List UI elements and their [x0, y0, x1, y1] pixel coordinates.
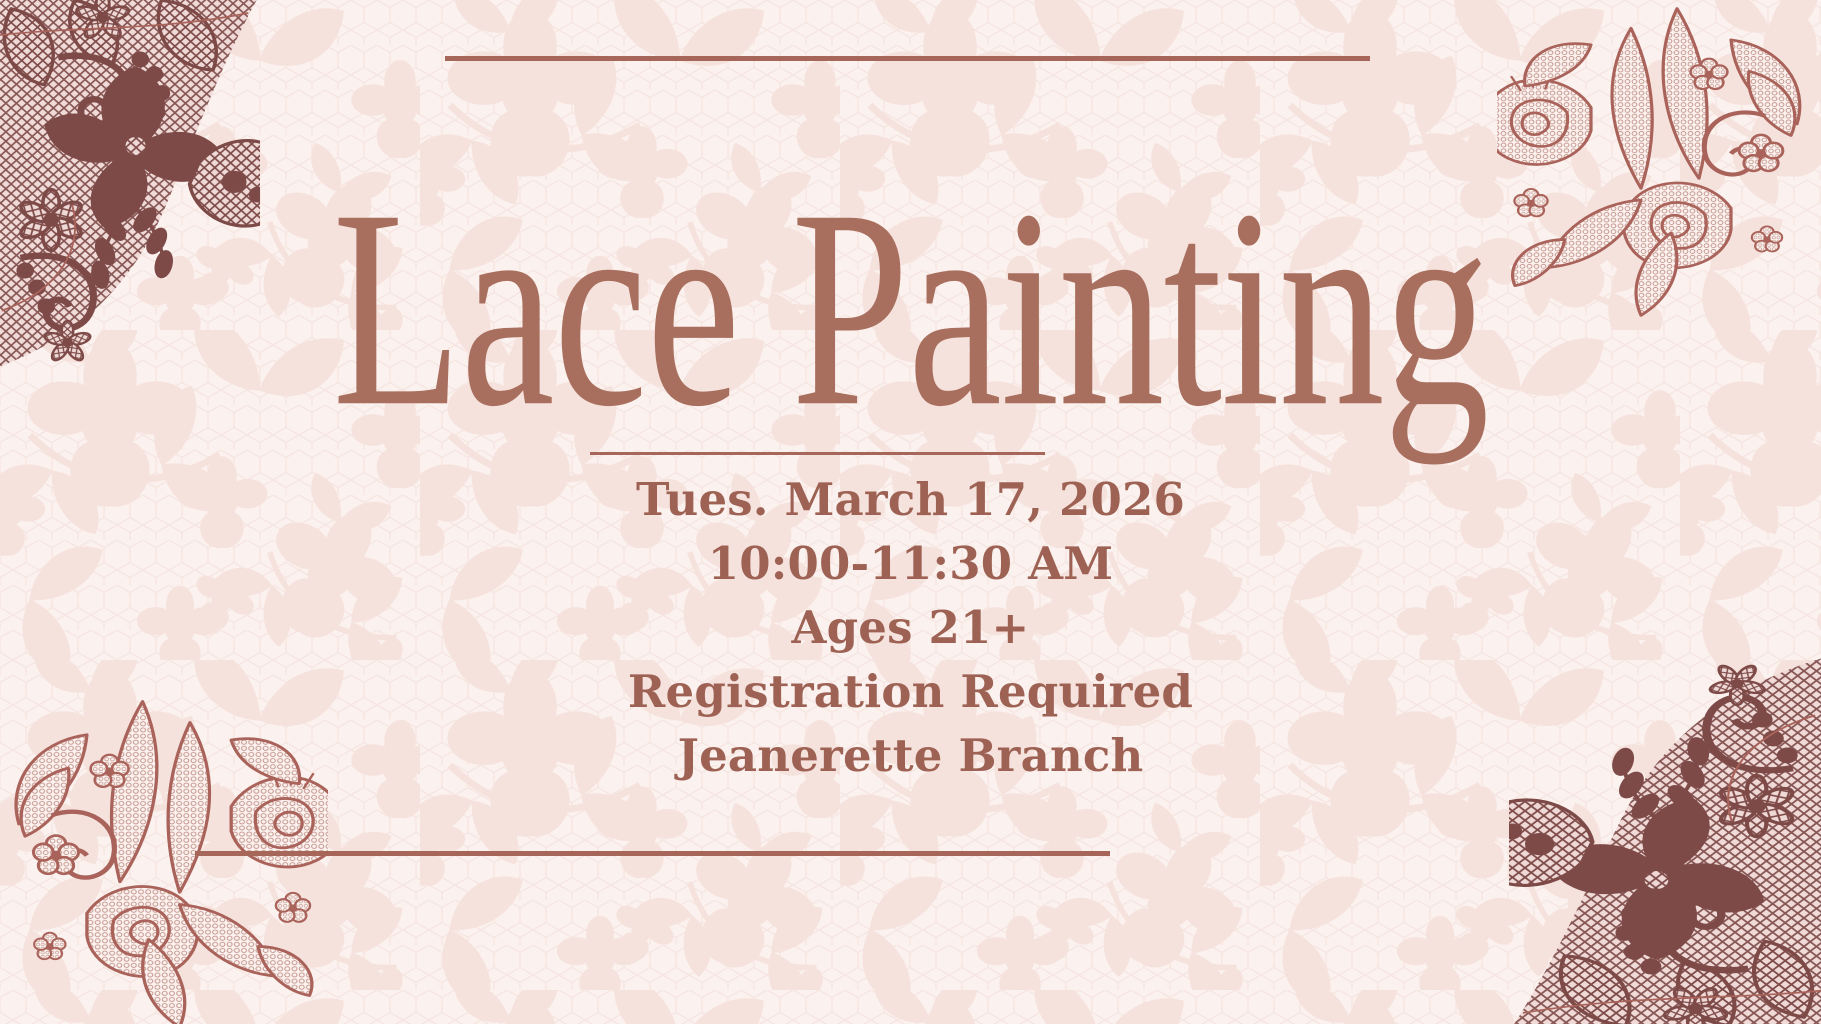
divider-rule-bottom: [195, 851, 1110, 856]
event-time: 10:00-11:30 AM: [0, 532, 1821, 596]
event-date: Tues. March 17, 2026: [0, 468, 1821, 532]
event-registration: Registration Required: [0, 660, 1821, 724]
page-title: Lace Painting: [27, 168, 1793, 451]
divider-rule-top: [445, 56, 1370, 61]
event-details: Tues. March 17, 2026 10:00-11:30 AM Ages…: [0, 468, 1821, 787]
lace-painting-flyer: Lace Painting Tues. March 17, 2026 10:00…: [0, 0, 1821, 1024]
event-age-range: Ages 21+: [0, 596, 1821, 660]
event-location: Jeanerette Branch: [0, 724, 1821, 788]
